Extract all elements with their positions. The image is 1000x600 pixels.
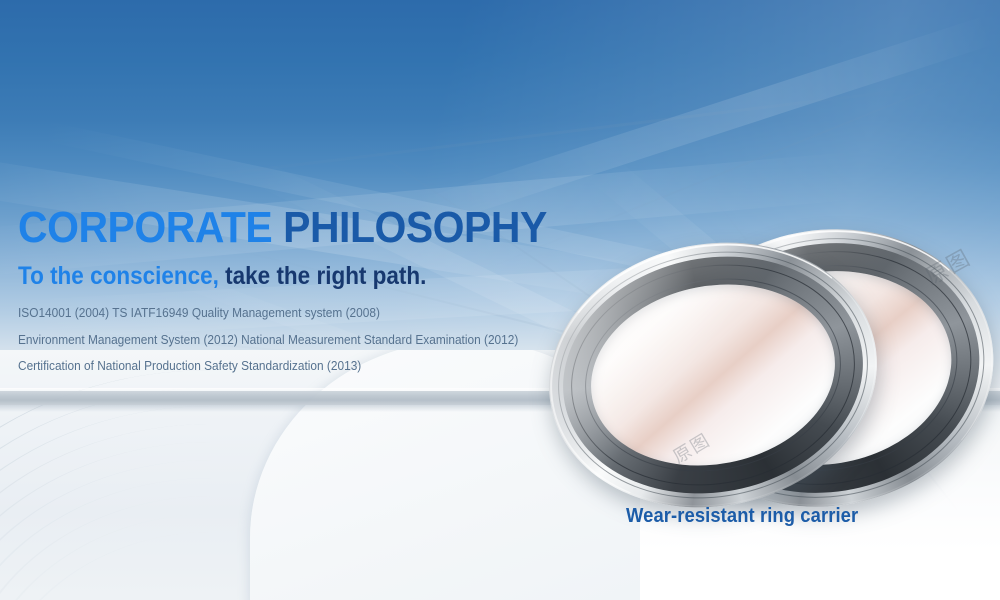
certification-line: ISO14001 (2004) TS IATF16949 Quality Man…: [18, 307, 607, 320]
headline-part-philosophy: PHILOSOPHY: [283, 203, 547, 252]
streak-line: [120, 85, 934, 188]
subheadline-part-one: To the conscience,: [18, 262, 219, 290]
certification-line: Certification of National Production Saf…: [18, 360, 607, 373]
certification-line: Environment Management System (2012) Nat…: [18, 334, 607, 347]
corporate-philosophy-banner: CORPORATE PHILOSOPHY To the conscience, …: [0, 0, 1000, 600]
page-title: CORPORATE PHILOSOPHY: [18, 206, 595, 250]
headline-part-corporate: CORPORATE: [18, 203, 272, 252]
subheadline: To the conscience, take the right path.: [18, 264, 576, 289]
subheadline-part-two: take the right path.: [225, 262, 426, 290]
streak-line: [415, 15, 995, 229]
product-caption: Wear-resistant ring carrier: [626, 505, 858, 528]
product-image-rings: 原图 原图 原图: [540, 226, 1000, 516]
